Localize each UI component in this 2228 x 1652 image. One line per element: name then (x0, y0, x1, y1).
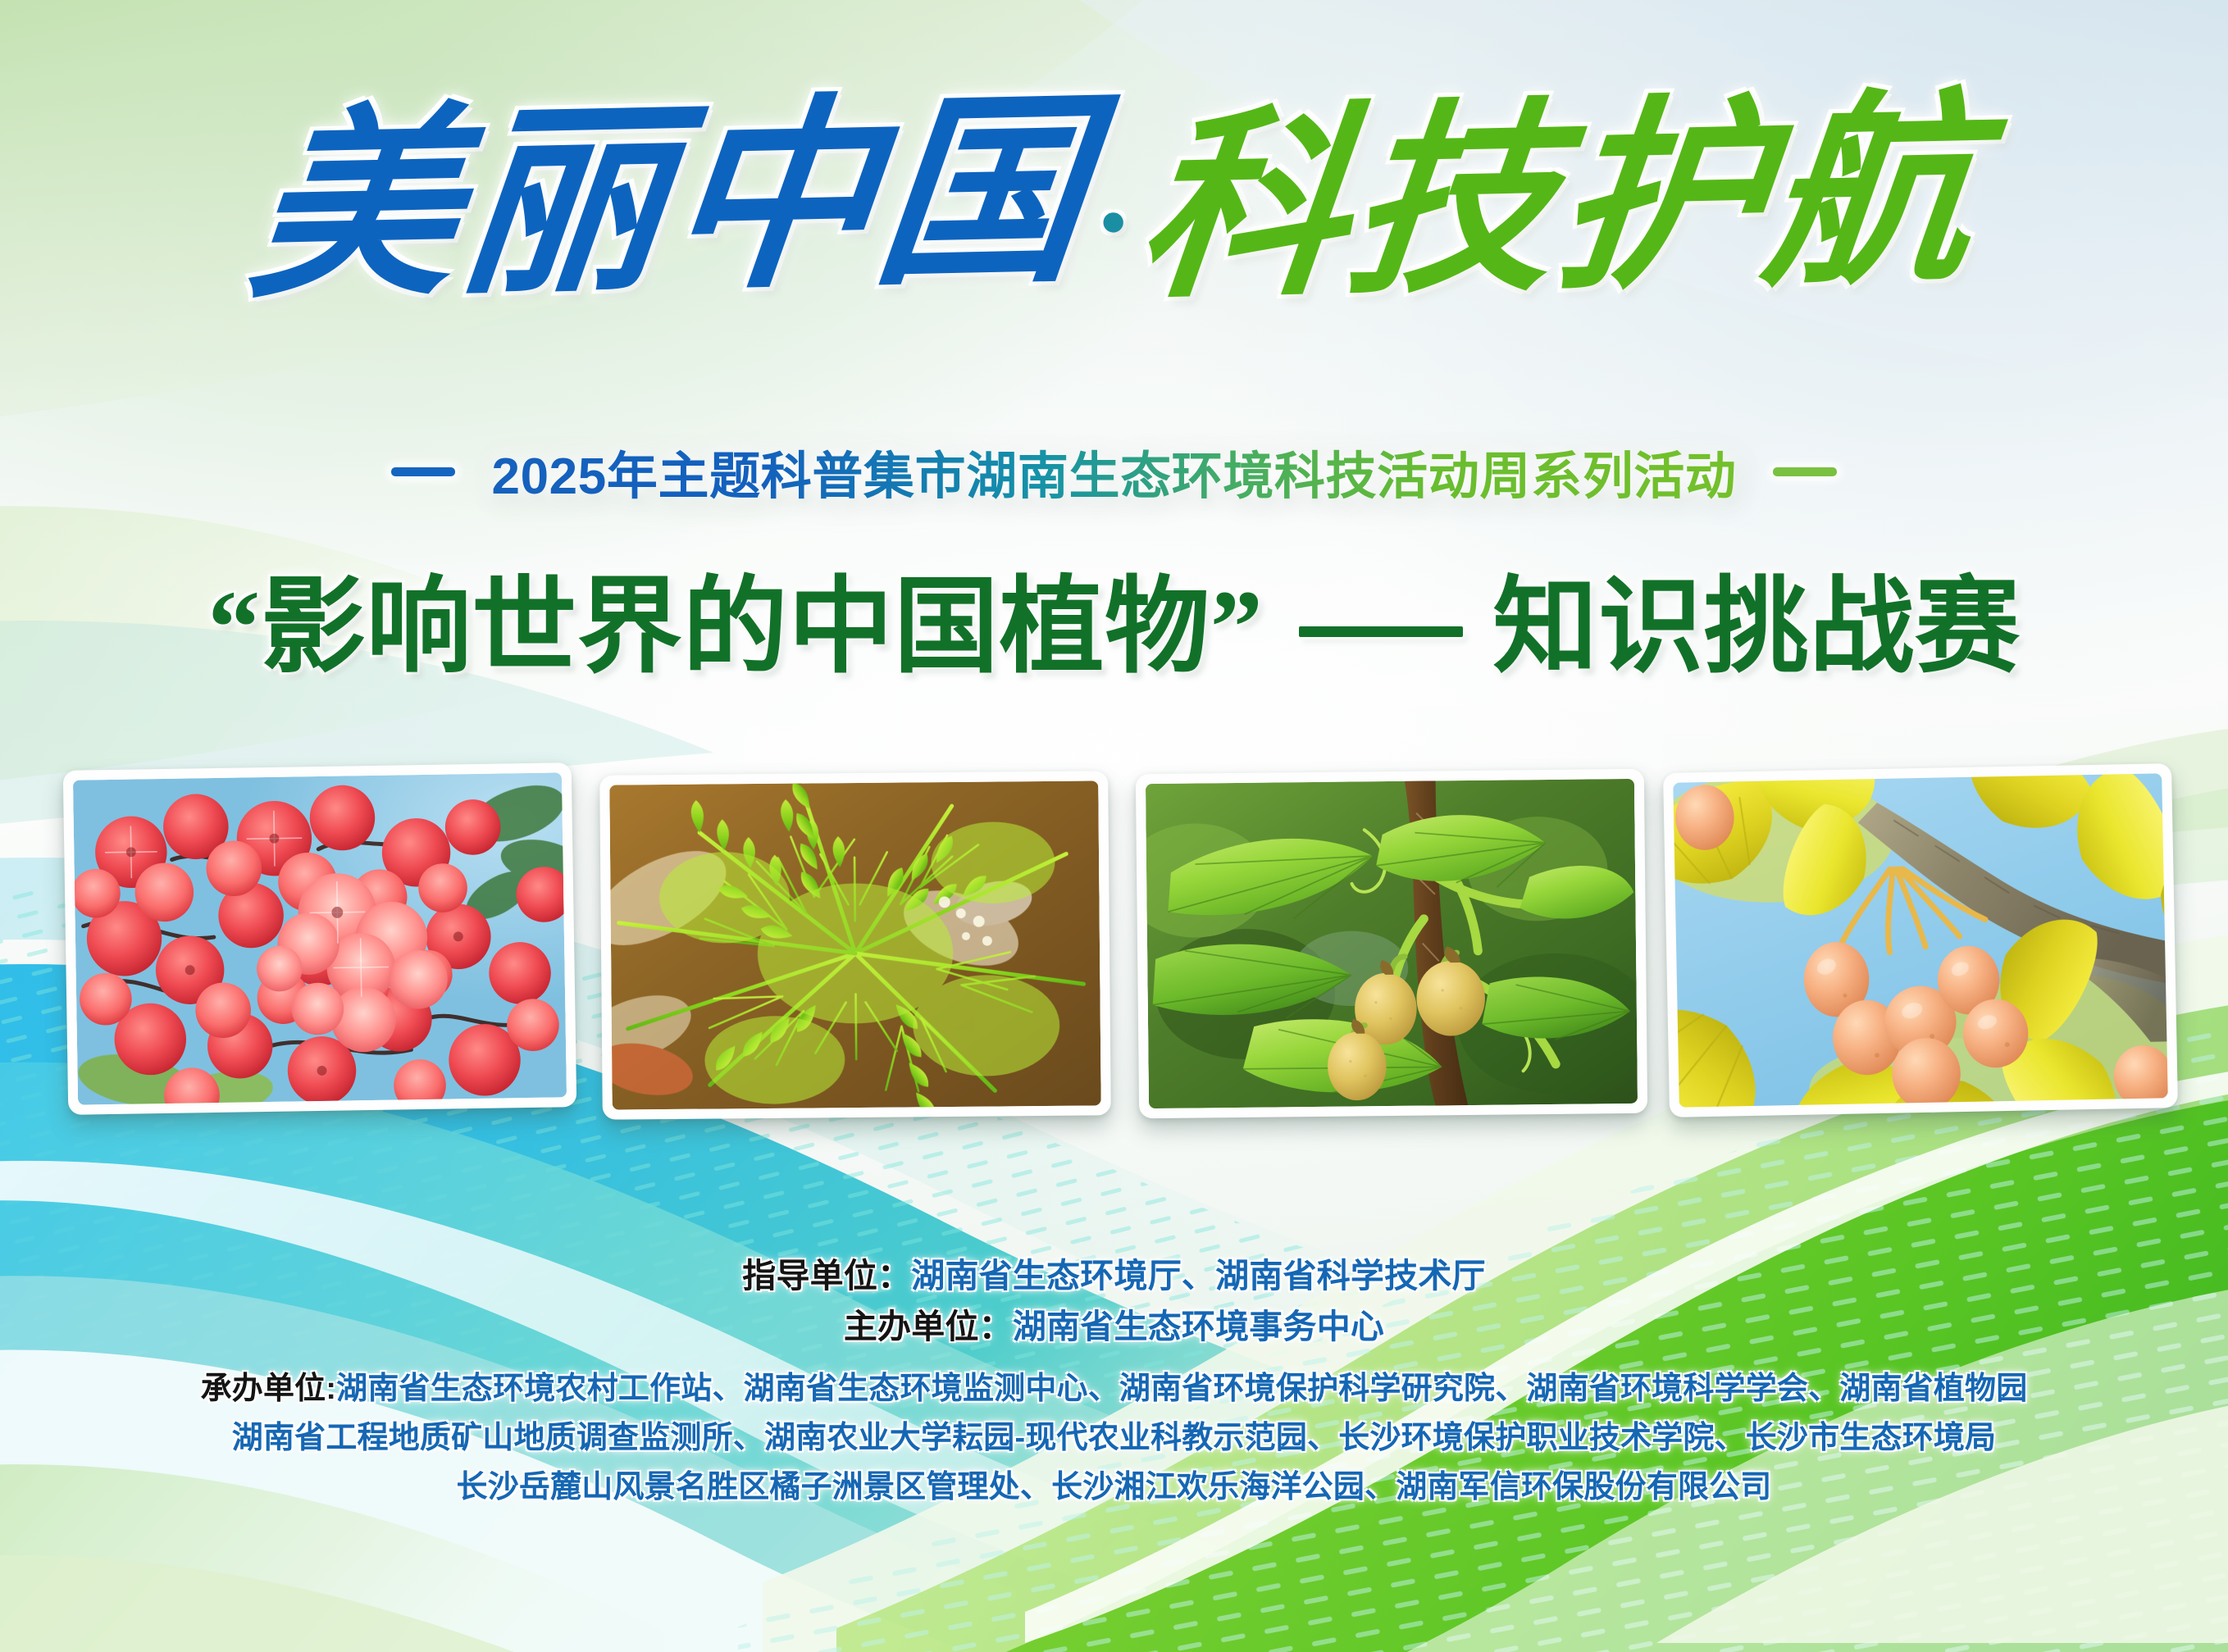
photo-card-ginkgo[interactable] (1663, 763, 2178, 1117)
headline-dash-icon (1299, 626, 1463, 637)
credits-block: 指导单位：湖南省生态环境厅、湖南省科学技术厅 主办单位：湖南省生态环境事务中心 … (0, 1250, 2228, 1512)
subtitle-dash-left-icon (391, 467, 455, 476)
organizer-block: 承办单位:湖南省生态环境农村工作站、湖南省生态环境监测中心、湖南省环境保护科学研… (0, 1364, 2228, 1512)
photo-image-azalea (73, 772, 567, 1104)
poster-canvas: 美丽中国·科技护航 2025年主题科普集市湖南生态环境科技活动周系列活动 “影响… (0, 0, 2228, 1652)
credit-line-organizer-2: 湖南省工程地质矿山地质调查监测所、湖南农业大学耘园-现代农业科教示范园、长沙环境… (0, 1413, 2228, 1463)
photo-card-wormwood[interactable] (599, 771, 1111, 1119)
title-zone: 美丽中国·科技护航 2025年主题科普集市湖南生态环境科技活动周系列活动 “影响… (0, 0, 2228, 738)
organizer-organizations-1: 湖南省生态环境农村工作站、湖南省生态环境监测中心、湖南省环境保护科学研究院、湖南… (336, 1372, 2027, 1406)
headline-row: “影响世界的中国植物” 知识挑战赛 (0, 541, 2228, 693)
photo-image-kiwifruit (1146, 779, 1638, 1108)
guidance-organizations: 湖南省生态环境厅、湖南省科学技术厅 (911, 1257, 1485, 1295)
guidance-label: 指导单位： (742, 1257, 911, 1295)
credit-line-guidance: 指导单位：湖南省生态环境厅、湖南省科学技术厅 (0, 1250, 2228, 1301)
main-title-separator: · (1097, 155, 1131, 290)
organizer-organizations-2: 湖南省工程地质矿山地质调查监测所、湖南农业大学耘园-现代农业科教示范园、长沙环境… (232, 1421, 1997, 1455)
organizer-organizations-3: 长沙岳麓山风景名胜区橘子洲景区管理处、长沙湘江欢乐海洋公园、湖南军信环保股份有限… (457, 1470, 1772, 1504)
host-label: 主办单位： (844, 1308, 1013, 1345)
main-title-part2: 科技护航 (1130, 80, 1987, 322)
credit-line-organizer-3: 长沙岳麓山风景名胜区橘子洲景区管理处、长沙湘江欢乐海洋公园、湖南军信环保股份有限… (0, 1463, 2228, 1512)
headline-left: “影响世界的中国植物” (207, 541, 1263, 693)
photo-card-azalea[interactable] (63, 762, 577, 1115)
photo-image-ginkgo (1673, 773, 2167, 1107)
photo-card-kiwifruit[interactable] (1136, 769, 1647, 1118)
organizer-label: 承办单位: (201, 1372, 337, 1406)
headline-right: 知识挑战赛 (1492, 541, 2020, 693)
main-title: 美丽中国·科技护航 (0, 89, 2228, 314)
credit-line-organizer-1: 承办单位:湖南省生态环境农村工作站、湖南省生态环境监测中心、湖南省环境保护科学研… (0, 1364, 2228, 1413)
subtitle-text: 2025年主题科普集市湖南生态环境科技活动周系列活动 (491, 435, 1736, 508)
photo-strip (0, 750, 2228, 1135)
host-organizations: 湖南省生态环境事务中心 (1013, 1308, 1384, 1345)
subtitle-row: 2025年主题科普集市湖南生态环境科技活动周系列活动 (0, 435, 2228, 508)
photo-image-wormwood (609, 780, 1100, 1109)
credit-line-host: 主办单位：湖南省生态环境事务中心 (0, 1301, 2228, 1352)
subtitle-dash-right-icon (1773, 467, 1837, 476)
main-title-part1: 美丽中国 (241, 80, 1098, 322)
